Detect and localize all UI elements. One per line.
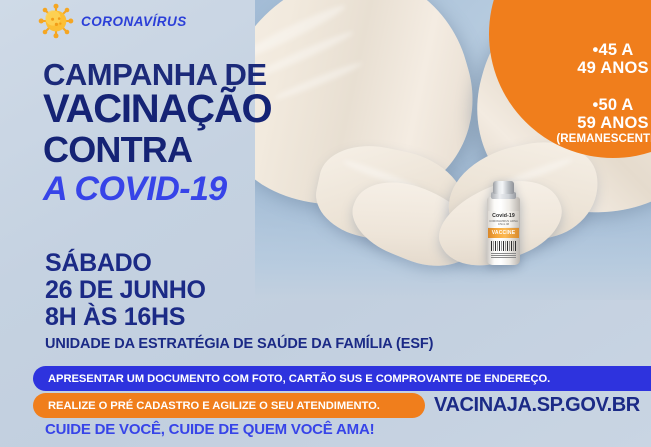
documents-notice-text: APRESENTAR UM DOCUMENTO COM FOTO, CARTÃO… xyxy=(48,373,550,385)
vial-label-vaccine-text: VACCINE xyxy=(488,230,519,236)
badge-line-5: (REMANESCENTES) xyxy=(533,133,651,146)
headline-line-3: CONTRA xyxy=(43,130,271,169)
coronavirus-icon xyxy=(38,3,74,39)
badge-line-1: •45 A xyxy=(533,42,651,60)
badge-line-4: 59 ANOS xyxy=(533,115,651,133)
documents-notice-banner: APRESENTAR UM DOCUMENTO COM FOTO, CARTÃO… xyxy=(33,366,651,391)
coronavirus-logo-text: CORONAVÍRUS xyxy=(81,14,187,29)
headline-line-2: VACINAÇÃO xyxy=(43,89,271,130)
precadastro-notice-banner[interactable]: REALIZE O PRÉ CADASTRO E AGILIZE O SEU A… xyxy=(33,393,425,418)
vial-fineprint xyxy=(491,253,516,259)
vaccination-campaign-poster: Covid-19 CORONAVIRUS mRNA 0.5mL IM VACCI… xyxy=(0,0,651,447)
badge-spacer xyxy=(533,77,651,97)
vial-label-covid-text: Covid-19 xyxy=(488,213,519,219)
tagline-text: CUIDE DE VOCÊ, CUIDE DE QUEM VOCÊ AMA! xyxy=(45,421,374,438)
badge-line-2: 49 ANOS xyxy=(533,60,651,78)
schedule-block: SÁBADO 26 DE JUNHO 8H ÀS 16HS xyxy=(45,250,206,331)
vial-barcode-icon xyxy=(491,241,516,251)
schedule-location: UNIDADE DA ESTRATÉGIA DE SAÚDE DA FAMÍLI… xyxy=(45,336,433,352)
schedule-date: 26 DE JUNHO xyxy=(45,277,206,304)
website-link[interactable]: VACINAJA.SP.GOV.BR xyxy=(434,394,640,417)
vaccine-vial-icon: Covid-19 CORONAVIRUS mRNA 0.5mL IM VACCI… xyxy=(484,181,523,265)
page-title: CAMPANHA DE VACINAÇÃO CONTRA A COVID-19 xyxy=(43,58,271,209)
vial-label-sub-text: CORONAVIRUS mRNA 0.5mL IM xyxy=(488,220,519,226)
schedule-hours: 8H ÀS 16HS xyxy=(45,304,206,331)
badge-line-3: •50 A xyxy=(533,97,651,115)
coronavirus-logo: CORONAVÍRUS xyxy=(38,3,187,39)
precadastro-notice-text: REALIZE O PRÉ CADASTRO E AGILIZE O SEU A… xyxy=(48,400,380,412)
headline-line-4: A COVID-19 xyxy=(43,169,271,209)
schedule-day: SÁBADO xyxy=(45,250,206,277)
vial-cap xyxy=(493,181,514,194)
